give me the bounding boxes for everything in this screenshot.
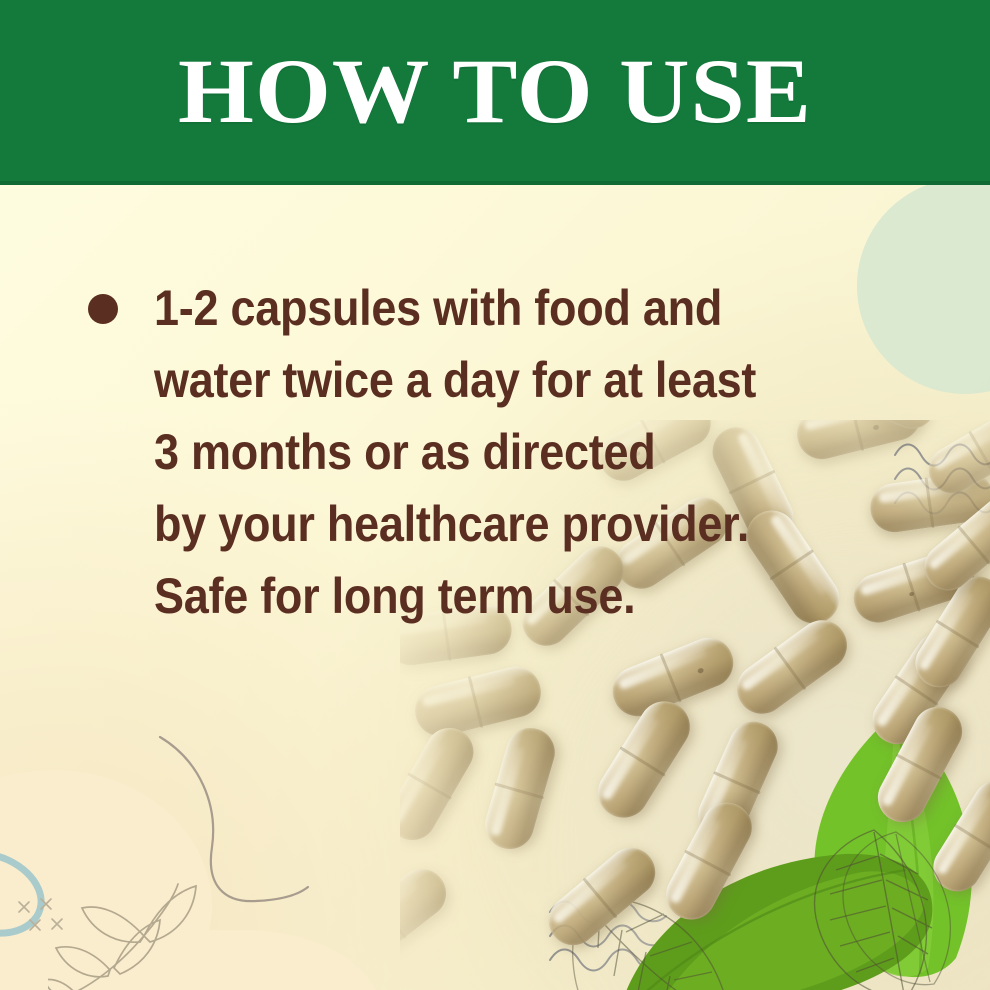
page-title: HOW TO USE: [0, 0, 990, 181]
instruction-line: by your healthcare provider.: [154, 488, 806, 560]
instruction-line: 3 months or as directed: [154, 416, 806, 488]
instruction-line: water twice a day for at least: [154, 344, 806, 416]
instruction-text: 1-2 capsules with food and water twice a…: [154, 272, 806, 632]
decorative-leaf-branch-outline: [48, 878, 238, 990]
instruction-line: Safe for long term use.: [154, 560, 806, 632]
bullet-point-icon: [88, 294, 118, 324]
header-bottom-edge: [0, 181, 990, 185]
instruction-line: 1-2 capsules with food and: [154, 272, 806, 344]
decorative-leaf-watermark-corner: [800, 826, 990, 990]
how-to-use-poster: HOW TO USE 1-2 capsules with food and wa…: [0, 0, 990, 990]
instruction-bullet-item: 1-2 capsules with food and water twice a…: [88, 272, 878, 632]
